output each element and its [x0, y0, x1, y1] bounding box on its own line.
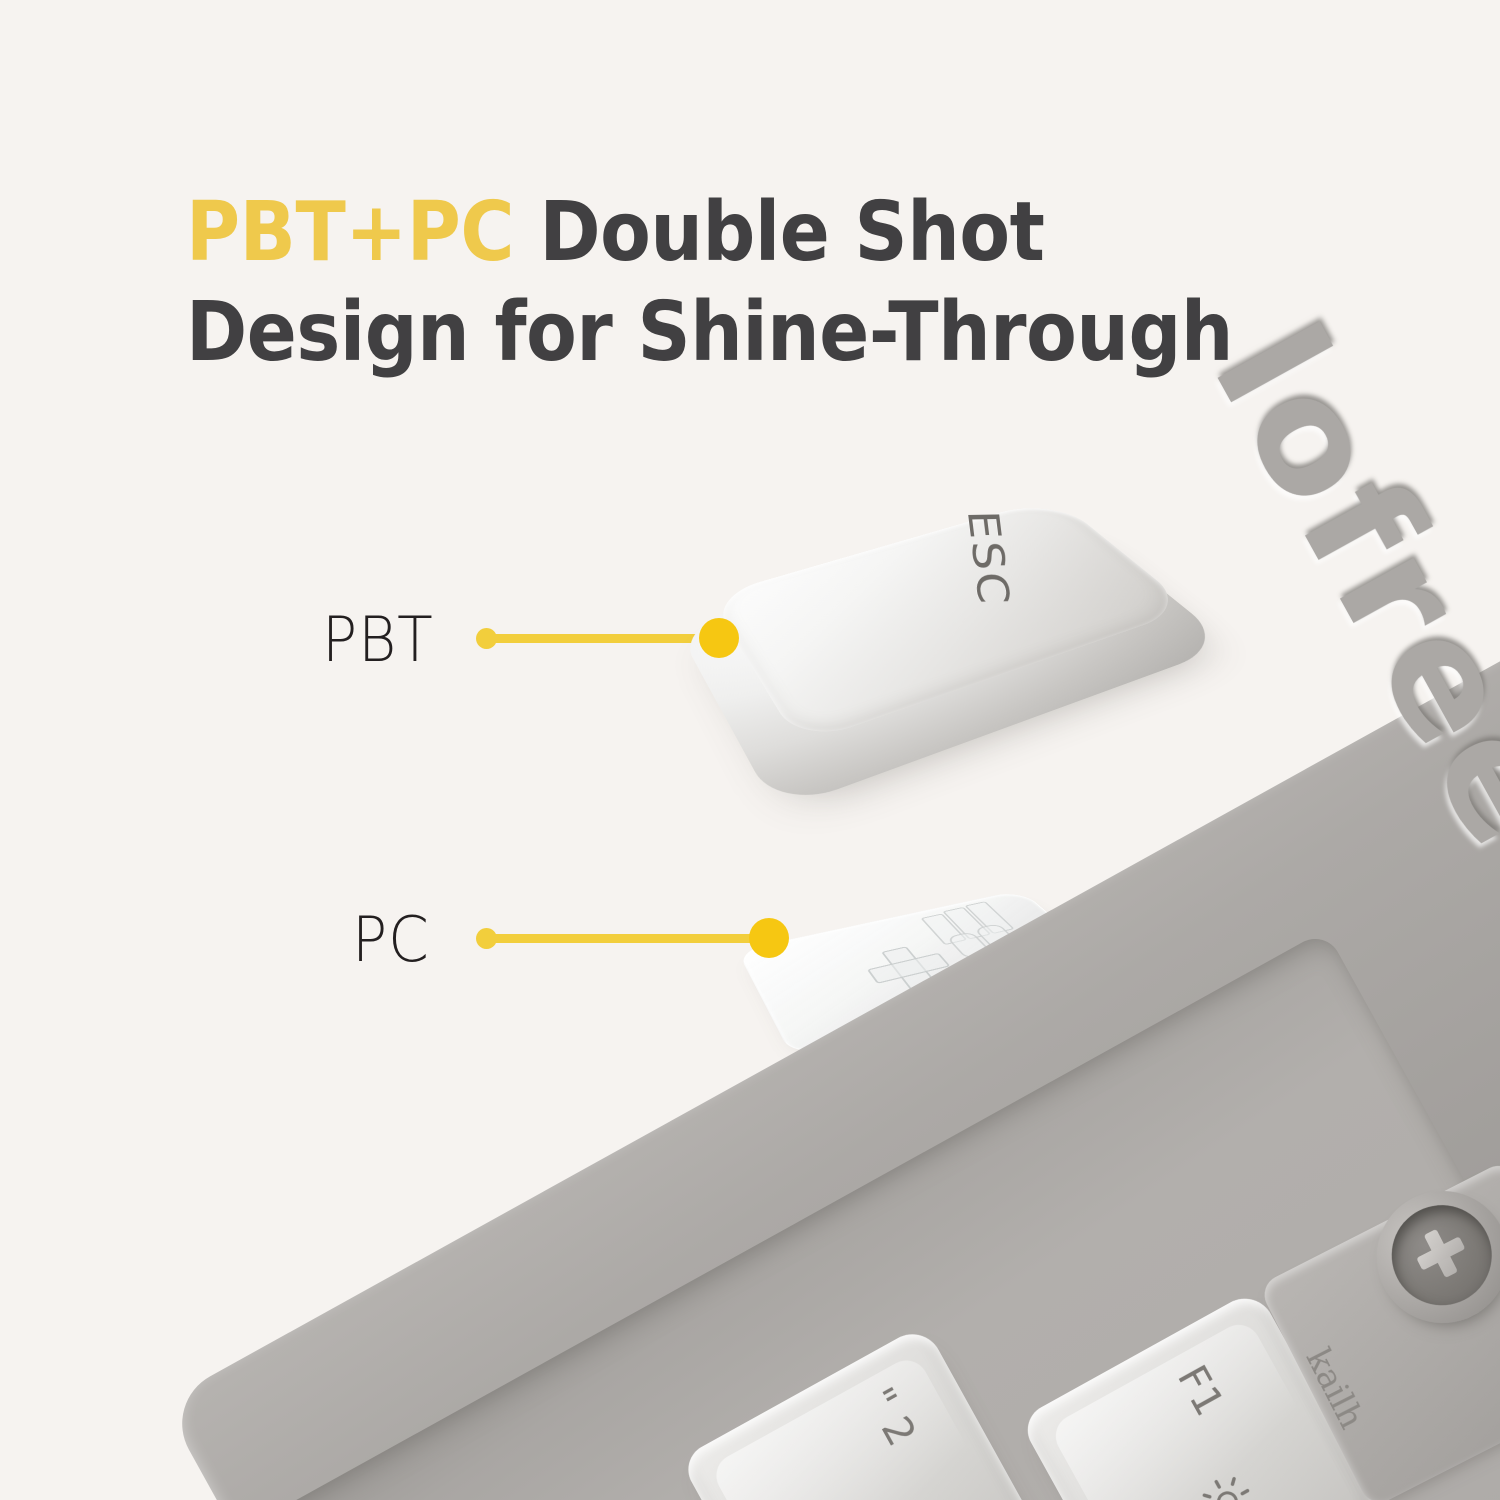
- leader-dot-large-pbt: [699, 618, 739, 658]
- page-title: PBT+PC Double ShotDesign for Shine-Throu…: [186, 183, 1284, 383]
- leader-dot-large-pc: [749, 918, 789, 958]
- callout-label-pc: PC: [352, 903, 430, 976]
- cross-stem-icon: [1409, 1221, 1474, 1286]
- leader-line-pbt: [486, 634, 720, 643]
- key-2[interactable]: " 2: [679, 1324, 1054, 1500]
- leader-line-pc: [486, 934, 770, 943]
- leader-dot-small-pbt: [476, 628, 497, 649]
- keycap-dish: [709, 1353, 1019, 1500]
- leader-dot-small-pc: [476, 928, 497, 949]
- headline-accent: PBT+PC: [186, 185, 514, 280]
- product-marketing-image: PBT+PC Double ShotDesign for Shine-Throu…: [0, 0, 1500, 1500]
- headline-line1-rest: Double Shot: [514, 185, 1044, 280]
- callout-label-pbt: PBT: [322, 603, 434, 676]
- esc-keycap-pbt: ESC: [707, 478, 1187, 794]
- headline-line2: Design for Shine-Through: [186, 285, 1233, 380]
